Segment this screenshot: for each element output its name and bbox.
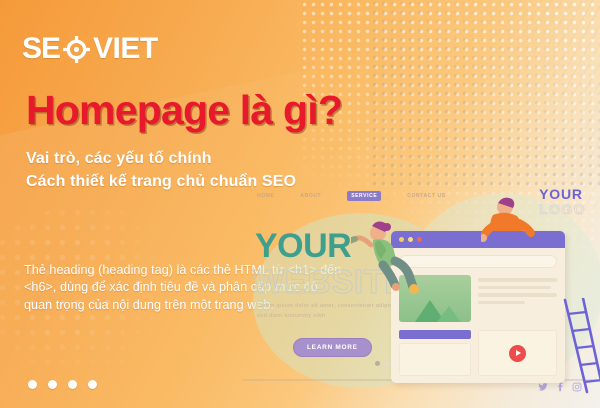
mock-navbar: HOME ABOUT SERVICE CONTACT US — [257, 191, 446, 201]
twitter-icon[interactable] — [538, 382, 548, 392]
mock-logo-line-1: YOUR — [539, 187, 586, 201]
play-button-icon[interactable] — [509, 345, 526, 362]
facebook-icon[interactable] — [555, 382, 565, 392]
text-line — [478, 293, 557, 297]
sitting-person-figure — [481, 197, 541, 257]
play-triangle — [516, 350, 521, 356]
website-illustration: HOME ABOUT SERVICE CONTACT US YOUR LOGO … — [243, 183, 600, 408]
instagram-icon[interactable] — [572, 382, 582, 392]
browser-video-card — [478, 330, 557, 376]
social-links[interactable] — [538, 382, 582, 392]
slider-dot[interactable] — [385, 361, 390, 366]
crosshair-target-icon — [63, 36, 90, 63]
carousel-dot[interactable] — [28, 380, 37, 389]
brand-logo[interactable]: SE VIET — [22, 33, 158, 65]
slider-dot[interactable] — [375, 361, 380, 366]
text-line — [478, 301, 525, 305]
mountain-shape-small — [437, 306, 461, 322]
logo-text-suffix: VIET — [93, 34, 158, 64]
mock-brand-logo: YOUR LOGO — [539, 187, 586, 217]
diagonal-hatch-pattern — [480, 0, 600, 210]
poster-canvas: SE VIET Homepage là gì? Vai trò, các yếu… — [0, 0, 600, 408]
nav-item-contact[interactable]: CONTACT US — [407, 193, 445, 199]
subtitle-line-1: Vai trò, các yếu tố chính — [26, 148, 296, 171]
carousel-dots[interactable] — [28, 380, 97, 389]
card-header-bar — [399, 330, 471, 339]
text-line-placeholders — [478, 275, 557, 322]
carousel-dot[interactable] — [88, 380, 97, 389]
carousel-dot[interactable] — [48, 380, 57, 389]
carousel-dot[interactable] — [68, 380, 77, 389]
text-line — [478, 278, 557, 282]
card-body-pane — [399, 343, 471, 376]
climbing-person-figure — [351, 213, 421, 308]
nav-item-home[interactable]: HOME — [257, 193, 274, 199]
logo-text-prefix: SE — [22, 34, 60, 64]
mock-logo-line-2: LOGO — [539, 201, 586, 217]
nav-item-about[interactable]: ABOUT — [300, 193, 321, 199]
illustration-hero-word-1: YOUR — [255, 229, 351, 263]
text-line — [478, 286, 551, 290]
nav-item-service[interactable]: SERVICE — [347, 191, 381, 201]
learn-more-button[interactable]: LEARN MORE — [293, 338, 372, 357]
browser-card-left — [399, 330, 471, 376]
page-title: Homepage là gì? — [26, 88, 342, 132]
browser-content-bottom — [391, 322, 565, 376]
